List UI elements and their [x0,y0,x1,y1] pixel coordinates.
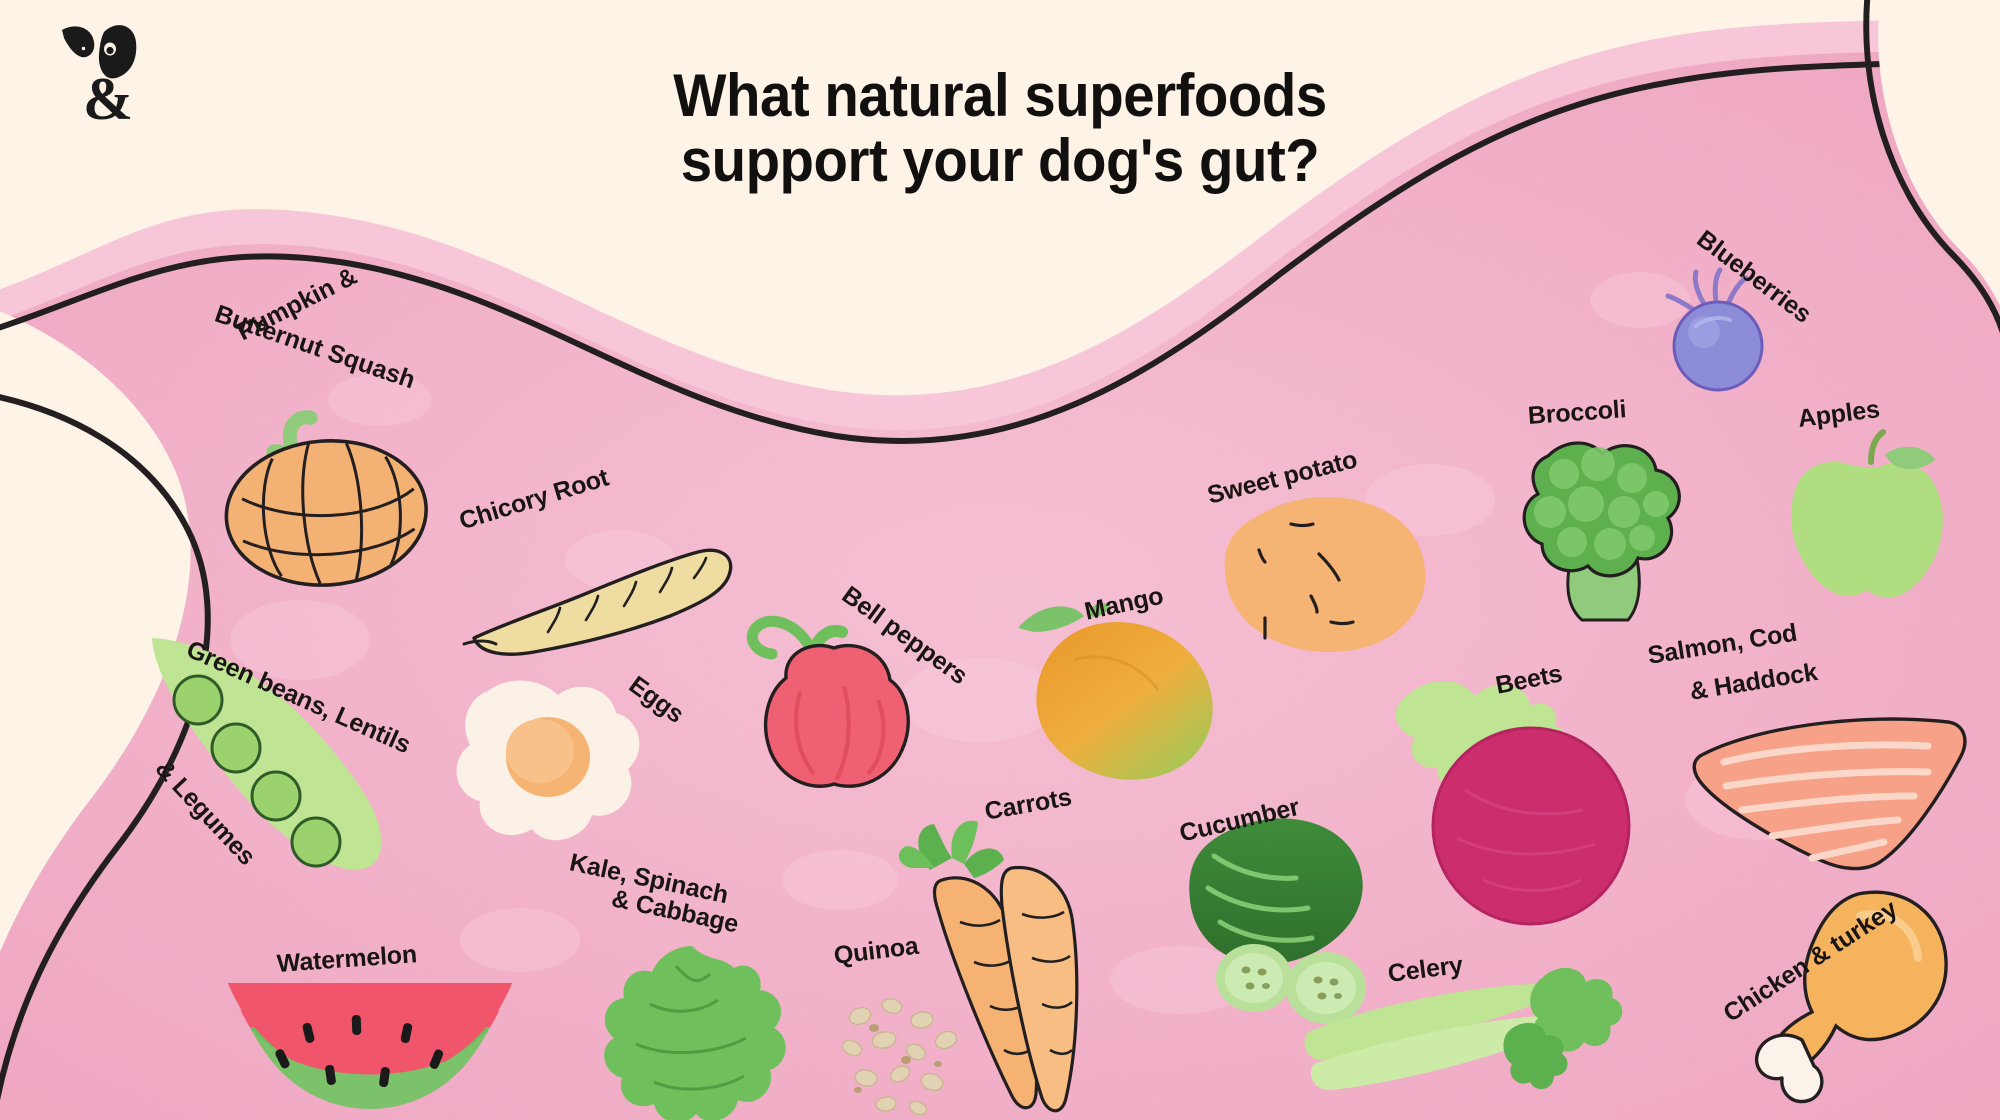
dog-face-ampersand-logo-icon: & [46,16,176,146]
celery-stalk-icon [1300,960,1630,1120]
svg-text:&: & [83,66,133,132]
apple-icon [1775,430,1965,610]
page-title: What natural superfoods support your dog… [530,64,1470,194]
mango-icon [1000,590,1240,790]
carrot-icon [890,810,1140,1120]
parsnip-root-icon [462,520,742,660]
brand-logo: & [46,16,176,146]
watermelon-slice-icon [220,975,520,1120]
pumpkin-icon [193,387,456,604]
leafy-green-icon [580,940,810,1120]
salmon-fillet-icon [1680,700,1980,890]
beetroot-icon [1365,660,1655,940]
infographic-canvas: & What natural superfoods support your d… [0,0,2000,1120]
broccoli-icon [1490,420,1710,630]
sweet-potato-icon [1215,480,1435,660]
